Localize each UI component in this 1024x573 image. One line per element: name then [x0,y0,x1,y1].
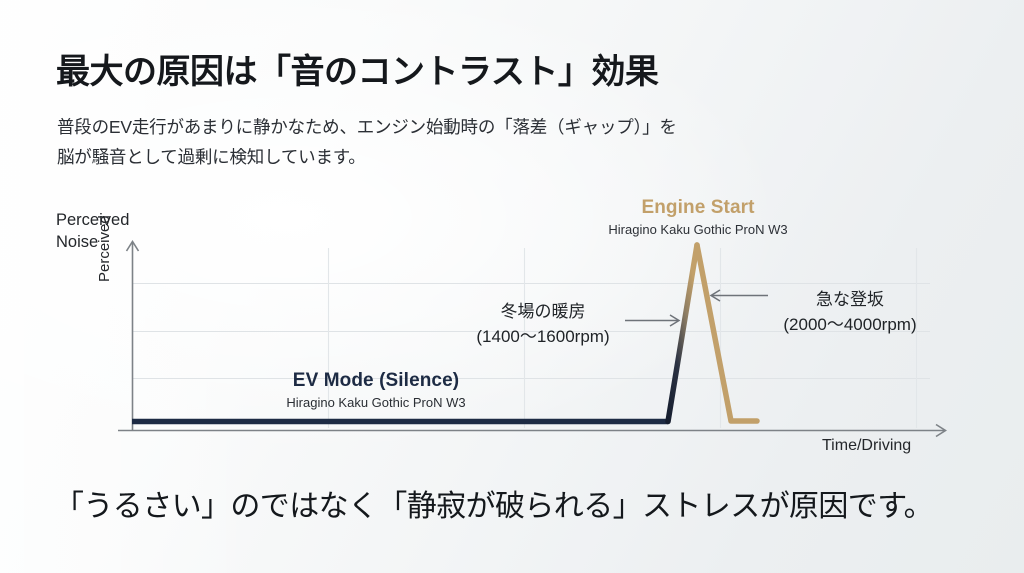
right-arrow-icon [625,315,679,326]
series-engine-start-rise [668,245,697,422]
page-subtitle: 普段のEV走行があまりに静かなため、エンジン始動時の「落差（ギャップ）」を 脳が… [57,112,677,172]
series-engine-start-fall [697,245,757,421]
slide-caption: 「うるさい」のではなく「静寂が破られる」ストレスが原因です。 [54,481,933,525]
annotation-steep-climb-title: 急な登坂 [783,288,916,313]
annotation-steep-climb-subtitle: (2000〜4000rpm) [783,313,916,338]
annotation-steep-climb: 急な登坂 (2000〜4000rpm) [783,288,916,337]
annotation-ev-mode-subtitle: Hiragino Kaku Gothic ProN W3 [286,395,465,410]
y-axis-title: Perceived Noise [56,210,129,254]
annotation-ev-mode: EV Mode (Silence) Hiragino Kaku Gothic P… [286,370,465,410]
page-subtitle-line-2: 脳が騒音として過剰に検知しています。 [57,142,677,172]
y-axis [127,242,139,431]
slide-canvas: 最大の原因は「音のコントラスト」効果 普段のEV走行があまりに静かなため、エンジ… [0,0,1024,573]
annotation-engine-start: Engine Start Hiragino Kaku Gothic ProN W… [608,197,787,237]
annotation-winter-heating-subtitle: (1400〜1600rpm) [476,325,609,350]
annotation-winter-heating: 冬場の暖房 (1400〜1600rpm) [476,300,609,349]
annotation-engine-start-title: Engine Start [608,197,787,219]
page-subtitle-line-1: 普段のEV走行があまりに静かなため、エンジン始動時の「落差（ギャップ）」を [57,112,677,142]
x-axis-title: Time/Driving [822,437,911,455]
annotation-winter-heating-title: 冬場の暖房 [476,300,609,325]
annotation-ev-mode-title: EV Mode (Silence) [286,370,465,392]
y-axis-rotated-label: Perceived [96,215,113,282]
annotation-engine-start-subtitle: Hiragino Kaku Gothic ProN W3 [608,222,787,237]
y-axis-title-line-2: Noise [56,232,129,254]
y-axis-title-line-1: Perceived [56,210,129,232]
x-axis [118,425,946,437]
left-arrow-icon [711,290,768,301]
page-title: 最大の原因は「音のコントラスト」効果 [56,44,658,93]
